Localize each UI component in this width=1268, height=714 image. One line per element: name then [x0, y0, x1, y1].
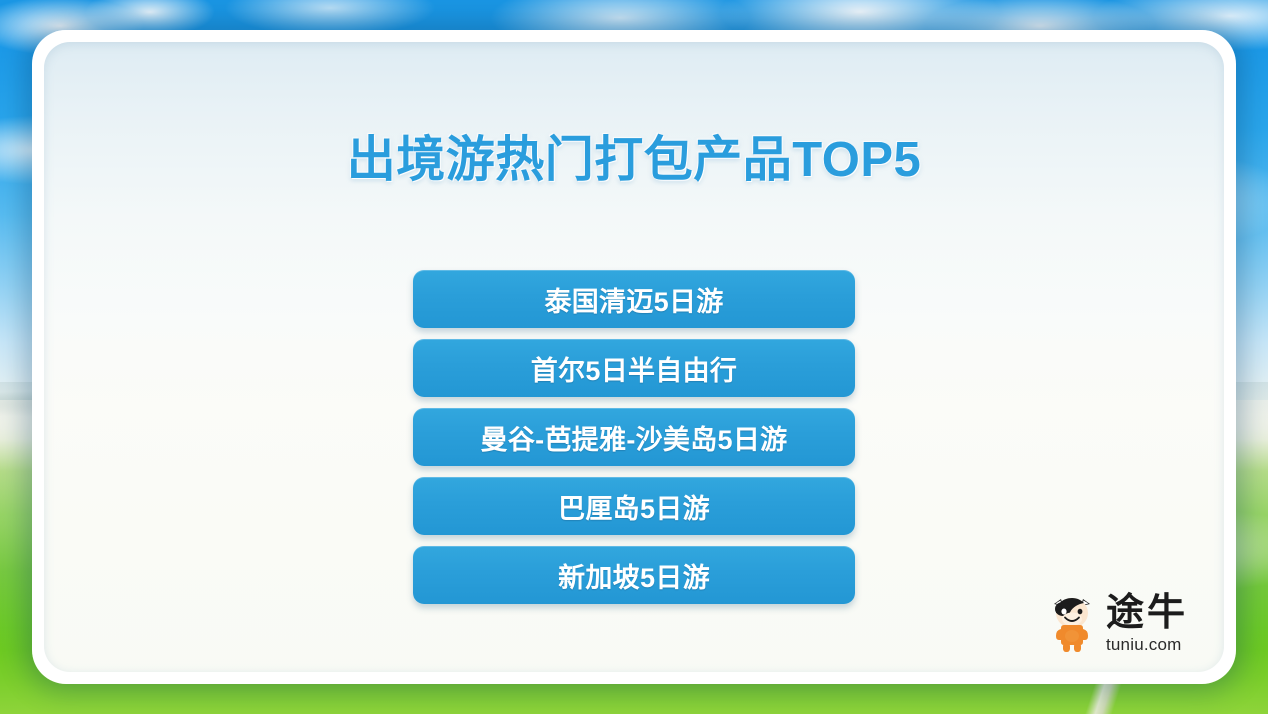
brand-url: tuniu.com: [1106, 636, 1182, 653]
list-item[interactable]: 巴厘岛5日游: [413, 477, 855, 535]
brand-logo[interactable]: 途牛 tuniu.com: [1048, 592, 1188, 654]
list-item[interactable]: 新加坡5日游: [413, 546, 855, 604]
brand-name-cn: 途牛: [1106, 594, 1188, 632]
product-label: 巴厘岛5日游: [558, 487, 710, 526]
product-label: 首尔5日半自由行: [531, 349, 737, 388]
product-label: 曼谷-芭提雅-沙美岛5日游: [481, 418, 788, 457]
product-label: 新加坡5日游: [558, 556, 710, 595]
list-item[interactable]: 首尔5日半自由行: [413, 339, 855, 397]
product-list: 泰国清迈5日游 首尔5日半自由行 曼谷-芭提雅-沙美岛5日游 巴厘岛5日游 新加…: [44, 270, 1224, 604]
brand-wordmark: 途牛 tuniu.com: [1106, 594, 1188, 653]
page-title: 出境游热门打包产品TOP5: [44, 120, 1224, 191]
poster-panel: 出境游热门打包产品TOP5 泰国清迈5日游 首尔5日半自由行 曼谷-芭提雅-沙美…: [44, 42, 1224, 672]
product-label: 泰国清迈5日游: [544, 280, 723, 319]
tuniu-cow-icon: [1048, 592, 1096, 654]
list-item[interactable]: 泰国清迈5日游: [413, 270, 855, 328]
list-item[interactable]: 曼谷-芭提雅-沙美岛5日游: [413, 408, 855, 466]
poster-stage: 出境游热门打包产品TOP5 泰国清迈5日游 首尔5日半自由行 曼谷-芭提雅-沙美…: [0, 0, 1268, 714]
